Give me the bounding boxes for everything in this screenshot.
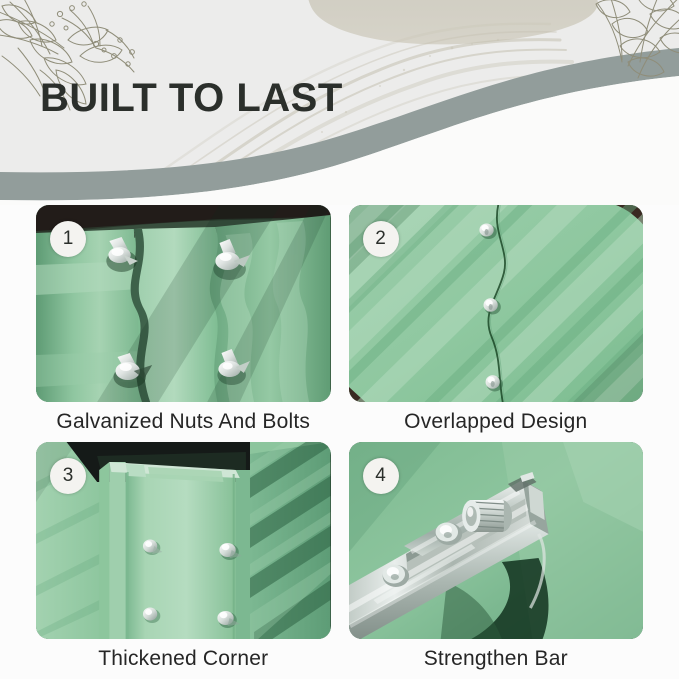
feature-cell-4: 4 Strengthen Bar <box>349 442 644 679</box>
overlapped-design-photo: 2 <box>349 205 644 402</box>
feature-cell-3: 3 Thickened Corner <box>36 442 331 679</box>
feature-cell-1: 1 Galvanized Nuts And Bolts <box>36 205 331 442</box>
thickened-corner-photo: 3 <box>36 442 331 639</box>
panel-number-badge-2: 2 <box>363 221 399 257</box>
feature-cell-2: 2 Overlapped Design <box>349 205 644 442</box>
panel-number-badge-1: 1 <box>50 221 86 257</box>
panel-caption-2: Overlapped Design <box>349 402 644 442</box>
strengthen-bar-photo: 4 <box>349 442 644 639</box>
panel-number-badge-3: 3 <box>50 458 86 494</box>
header-banner: BUILT TO LAST <box>0 0 679 205</box>
infographic-page: BUILT TO LAST <box>0 0 679 679</box>
panel-number-badge-4: 4 <box>363 458 399 494</box>
feature-grid: 1 Galvanized Nuts And Bolts <box>0 205 679 679</box>
threaded-bolt <box>462 500 512 532</box>
panel-caption-4: Strengthen Bar <box>349 639 644 679</box>
galvanized-nuts-and-bolts-photo: 1 <box>36 205 331 402</box>
panel-caption-3: Thickened Corner <box>36 639 331 679</box>
panel-caption-1: Galvanized Nuts And Bolts <box>36 402 331 442</box>
page-title: BUILT TO LAST <box>40 78 343 118</box>
